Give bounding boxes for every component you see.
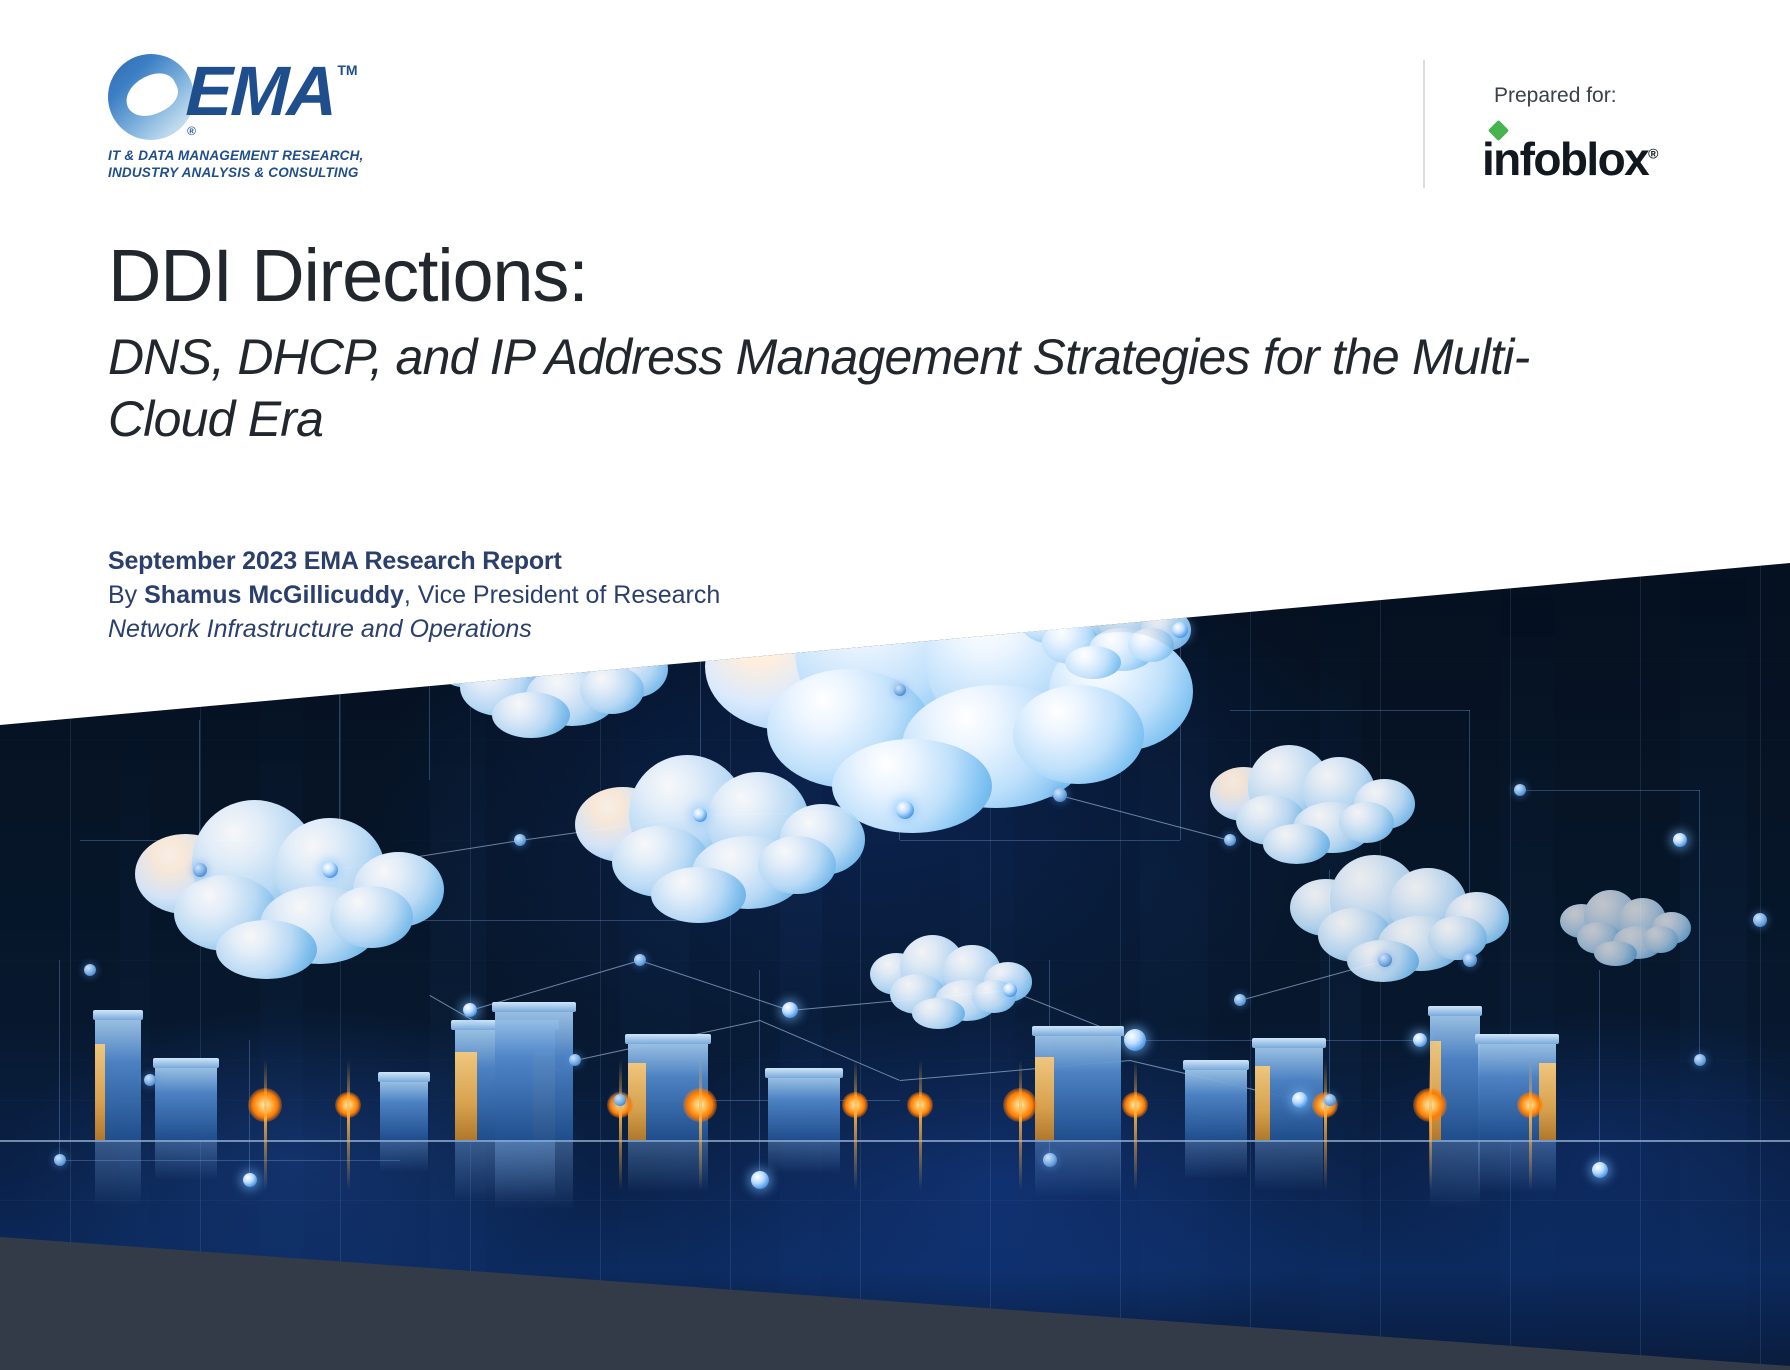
ema-tagline: IT & DATA MANAGEMENT RESEARCH, INDUSTRY … xyxy=(108,148,408,182)
author-title: , Vice President of Research xyxy=(404,581,720,609)
page-title: DDI Directions: xyxy=(108,236,1668,316)
report-date-line: September 2023 EMA Research Report xyxy=(108,545,720,579)
author-name: Shamus McGillicuddy xyxy=(144,581,404,609)
ema-wordmark: EMA xyxy=(185,58,337,125)
page-header: ® EMA TM IT & DATA MANAGEMENT RESEARCH, … xyxy=(0,0,1790,210)
prepared-for-label: Prepared for: xyxy=(1494,84,1617,108)
infoblox-wordmark: infoblox xyxy=(1482,133,1648,185)
ema-logo: ® EMA TM IT & DATA MANAGEMENT RESEARCH, … xyxy=(108,58,408,182)
author-prefix: By xyxy=(108,581,144,609)
practice-area: Network Infrastructure and Operations xyxy=(108,613,720,647)
cover-page: ® EMA TM IT & DATA MANAGEMENT RESEARCH, … xyxy=(0,0,1790,1370)
title-block: DDI Directions: DNS, DHCP, and IP Addres… xyxy=(108,236,1668,451)
page-subtitle: DNS, DHCP, and IP Address Management Str… xyxy=(108,326,1628,451)
infoblox-registered-mark: ® xyxy=(1648,146,1658,162)
byline-block: September 2023 EMA Research Report By Sh… xyxy=(108,545,720,646)
ema-logo-mark-icon: ® xyxy=(108,54,194,140)
author-line: By Shamus McGillicuddy, Vice President o… xyxy=(108,579,720,613)
header-divider xyxy=(1423,60,1425,188)
ema-trademark: TM xyxy=(337,62,357,78)
infoblox-logo: infoblox® xyxy=(1482,132,1658,186)
